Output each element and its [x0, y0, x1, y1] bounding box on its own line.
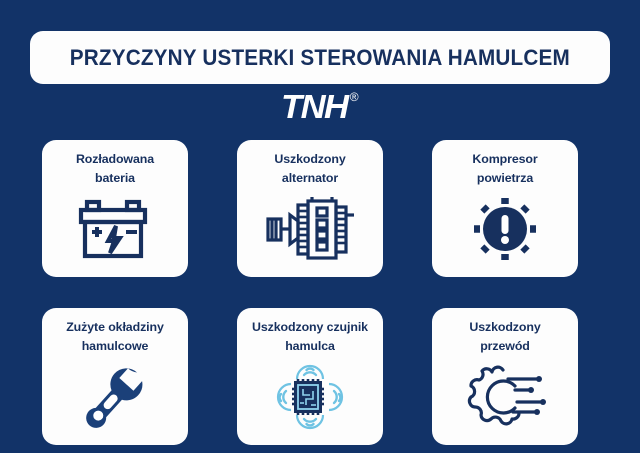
cause-card-brake-pads[interactable]: Zużyte okładziny hamulcowe — [42, 308, 188, 445]
title-banner: PRZYCZYNY USTERKI STEROWANIA HAMULCEM — [30, 31, 610, 84]
cause-card-label-line1: Uszkodzony — [439, 318, 571, 337]
cause-card-label-line1: Uszkodzony — [244, 150, 376, 169]
card-icon-slot — [439, 189, 571, 269]
gear-circuit-wire-icon — [459, 364, 551, 430]
cause-card-label-line2: hamulcowe — [49, 337, 181, 356]
cause-card-air-compressor[interactable]: Kompresor powietrza — [432, 140, 578, 277]
cause-card-damaged-wire[interactable]: Uszkodzony przewód — [432, 308, 578, 445]
card-icon-slot — [49, 189, 181, 269]
page-title: PRZYCZYNY USTERKI STEROWANIA HAMULCEM — [70, 45, 570, 71]
cause-card-label-line2: przewód — [439, 337, 571, 356]
registered-trademark-icon: ® — [350, 91, 359, 103]
cause-card-label-line1: Zużyte okładziny — [49, 318, 181, 337]
card-icon-slot — [439, 357, 571, 437]
infographic-poster: PRZYCZYNY USTERKI STEROWANIA HAMULCEM TN… — [0, 0, 640, 453]
cause-card-label-line1: Uszkodzony czujnik — [244, 318, 376, 337]
warning-brake-disc-icon — [468, 194, 542, 264]
cause-card-label-line2: bateria — [49, 169, 181, 188]
cause-card-alternator[interactable]: Uszkodzony alternator — [237, 140, 383, 277]
car-battery-icon — [75, 196, 155, 262]
cause-card-grid: Rozładowana bateria — [42, 140, 598, 445]
cause-card-label-line2: hamulca — [244, 337, 376, 356]
cause-card-brake-sensor[interactable]: Uszkodzony czujnik hamulca — [237, 308, 383, 445]
brand-logo-text: TNH — [281, 90, 347, 124]
cause-card-label-line2: powietrza — [439, 169, 571, 188]
cause-card-label-line1: Kompresor — [439, 150, 571, 169]
alternator-icon — [264, 197, 356, 261]
cause-card-label-line1: Rozładowana — [49, 150, 181, 169]
cause-card-battery[interactable]: Rozładowana bateria — [42, 140, 188, 277]
brand-logo: TNH ® — [0, 90, 640, 128]
wrench-icon — [77, 362, 153, 432]
brake-sensor-chip-icon — [270, 361, 350, 433]
card-icon-slot — [244, 189, 376, 269]
card-icon-slot — [49, 357, 181, 437]
card-icon-slot — [244, 357, 376, 437]
cause-card-label-line2: alternator — [244, 169, 376, 188]
